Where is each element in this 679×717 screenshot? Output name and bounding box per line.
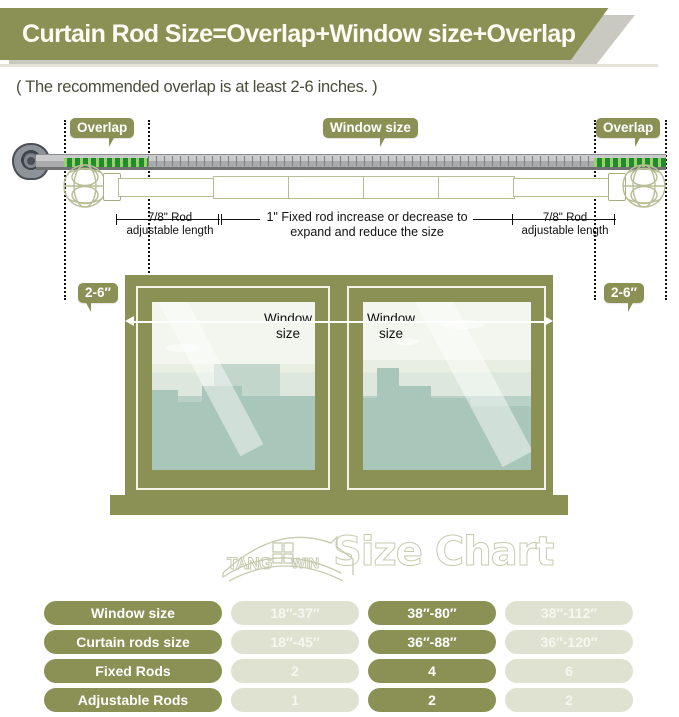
window-illustration: Window size Window size [125, 275, 553, 510]
table-cell: 2 [368, 688, 496, 712]
badge-window-size-top: Window size [323, 118, 418, 138]
table-row-label: Window size [44, 601, 222, 625]
table-row: Fixed Rods246 [44, 659, 636, 683]
logo-size-chart-title: Size Chart [333, 529, 554, 575]
table-row: Adjustable Rods122 [44, 688, 636, 712]
subtitle-text: ( The recommended overlap is at least 2-… [16, 78, 377, 97]
badge-overlap-left: Overlap [70, 118, 134, 138]
size-chart-table: Window size18″-37″38″-80″38″-112″Curtain… [44, 601, 636, 717]
badge-window-size-label: Window size [330, 120, 411, 135]
logo-brand-win: WIN [291, 555, 319, 572]
badge-gap-left-label: 2-6″ [85, 285, 111, 300]
caption-adjustable-left: 7/8" Rod adjustable length [110, 212, 230, 237]
skyline-block [399, 386, 431, 470]
rod-segment-fixed-3 [363, 176, 440, 199]
table-cell: 36″-120″ [505, 630, 633, 654]
table-cell: 38″-112″ [505, 601, 633, 625]
table-cell: 2 [231, 659, 359, 683]
badge-gap-left: 2-6″ [78, 283, 118, 303]
window-size-label-right: Window size [347, 311, 435, 341]
caption-fixed-line2: expand and reduce the size [290, 225, 444, 239]
finial-left-icon [62, 163, 108, 209]
guide-line-right-outer [665, 120, 667, 300]
skyline-block [282, 396, 315, 470]
rod-segment-adjustable-right [513, 178, 611, 197]
guide-line-left-outer [64, 120, 66, 300]
caption-adjustable-right-line2: adjustable length [522, 225, 609, 237]
badge-tail [109, 136, 115, 147]
window-sill [110, 495, 568, 515]
window-size-label-left: Window size [243, 311, 333, 341]
header-divider [0, 64, 658, 67]
skyline-block [431, 398, 471, 470]
badge-overlap-left-label: Overlap [77, 120, 127, 135]
table-cell: 36″-88″ [368, 630, 496, 654]
badge-overlap-right: Overlap [596, 118, 660, 138]
skyline-block [178, 402, 202, 470]
header-banner: Curtain Rod Size=Overlap+Window size+Ove… [0, 8, 626, 60]
badge-tail [635, 136, 641, 147]
table-row: Window size18″-37″38″-80″38″-112″ [44, 601, 636, 625]
window-measure-arrow-line [131, 321, 549, 323]
logo-brand-tang: TANG [227, 554, 272, 574]
window-size-left-line2: size [276, 326, 300, 341]
table-row-label: Fixed Rods [44, 659, 222, 683]
window-size-right-line1: Window [367, 311, 415, 326]
caption-adjustable-left-line1: 7/8" Rod [148, 212, 192, 224]
table-row-label: Adjustable Rods [44, 688, 222, 712]
rod-measurement-diagram: Overlap Window size Overlap [0, 110, 679, 520]
skyline-block [363, 398, 377, 470]
table-cell: 18″-45″ [231, 630, 359, 654]
badge-tail [380, 136, 386, 147]
badge-gap-right-label: 2-6″ [611, 285, 637, 300]
badge-tail [85, 301, 91, 312]
window-size-right-line2: size [379, 326, 403, 341]
tape-measure-base-edge [36, 167, 666, 170]
caption-adjustable-right-line1: 7/8" Rod [543, 212, 587, 224]
rod-segment-fixed-2 [288, 176, 365, 199]
rod-segment-fixed-1 [213, 176, 290, 199]
page-title: Curtain Rod Size=Overlap+Window size+Ove… [22, 8, 575, 60]
skyline-block [377, 368, 399, 470]
badge-overlap-right-label: Overlap [603, 120, 653, 135]
arrow-head-left-icon [125, 316, 134, 326]
table-row-label: Curtain rods size [44, 630, 222, 654]
guide-line-left-inner [148, 120, 150, 300]
table-row: Curtain rods size18″-45″36″-88″36″-120″ [44, 630, 636, 654]
table-cell: 38″-80″ [368, 601, 496, 625]
tape-ticks-middle [148, 156, 594, 166]
rod-segment-adjustable-left [118, 178, 216, 197]
badge-tail [628, 301, 634, 312]
window-size-left-line1: Window [264, 311, 312, 326]
table-cell: 2 [505, 688, 633, 712]
caption-adjustable-left-line2: adjustable length [127, 225, 214, 237]
table-cell: 6 [505, 659, 633, 683]
table-cell: 18″-37″ [231, 601, 359, 625]
brand-logo: TANG WIN Size Chart [215, 525, 555, 587]
skyline-block [152, 390, 178, 470]
guide-line-right-inner [594, 120, 596, 300]
caption-fixed-rod: 1" Fixed rod increase or decrease to exp… [228, 210, 506, 239]
arrow-head-right-icon [544, 316, 553, 326]
rod-segment-fixed-4 [438, 176, 515, 199]
table-cell: 1 [231, 688, 359, 712]
caption-fixed-line1: 1" Fixed rod increase or decrease to [266, 210, 467, 224]
finial-right-icon [621, 163, 667, 209]
badge-gap-right: 2-6″ [604, 283, 644, 303]
caption-adjustable-right: 7/8" Rod adjustable length [505, 212, 625, 237]
table-cell: 4 [368, 659, 496, 683]
